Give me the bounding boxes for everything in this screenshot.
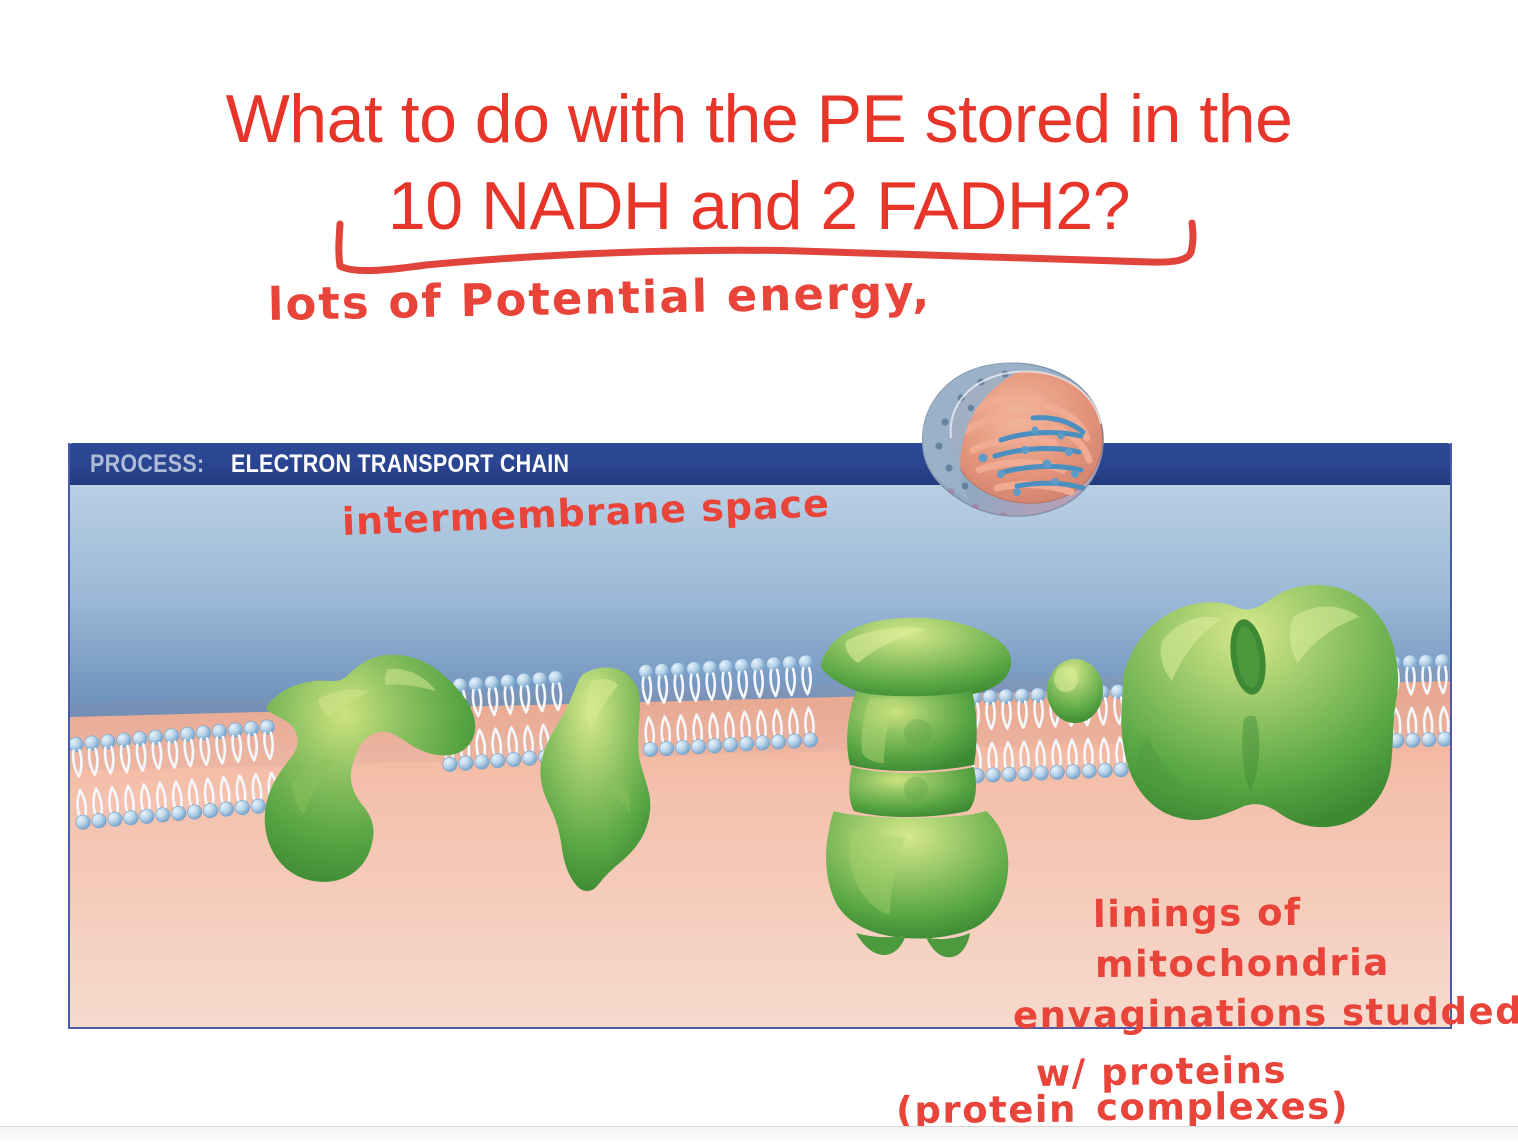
mitochondrion-cutaway-icon [905,352,1117,522]
bottom-shadow [0,1127,1518,1144]
annotation-potential-energy: lots of Potential energy, [267,265,931,331]
annotation-complexes: complexes) [1096,1085,1349,1129]
annotation-mitochondria: mitochondria [1095,941,1390,986]
annotation-envaginations-studded: envaginations studded [1013,990,1518,1037]
annotation-linings: linings of [1093,891,1302,936]
